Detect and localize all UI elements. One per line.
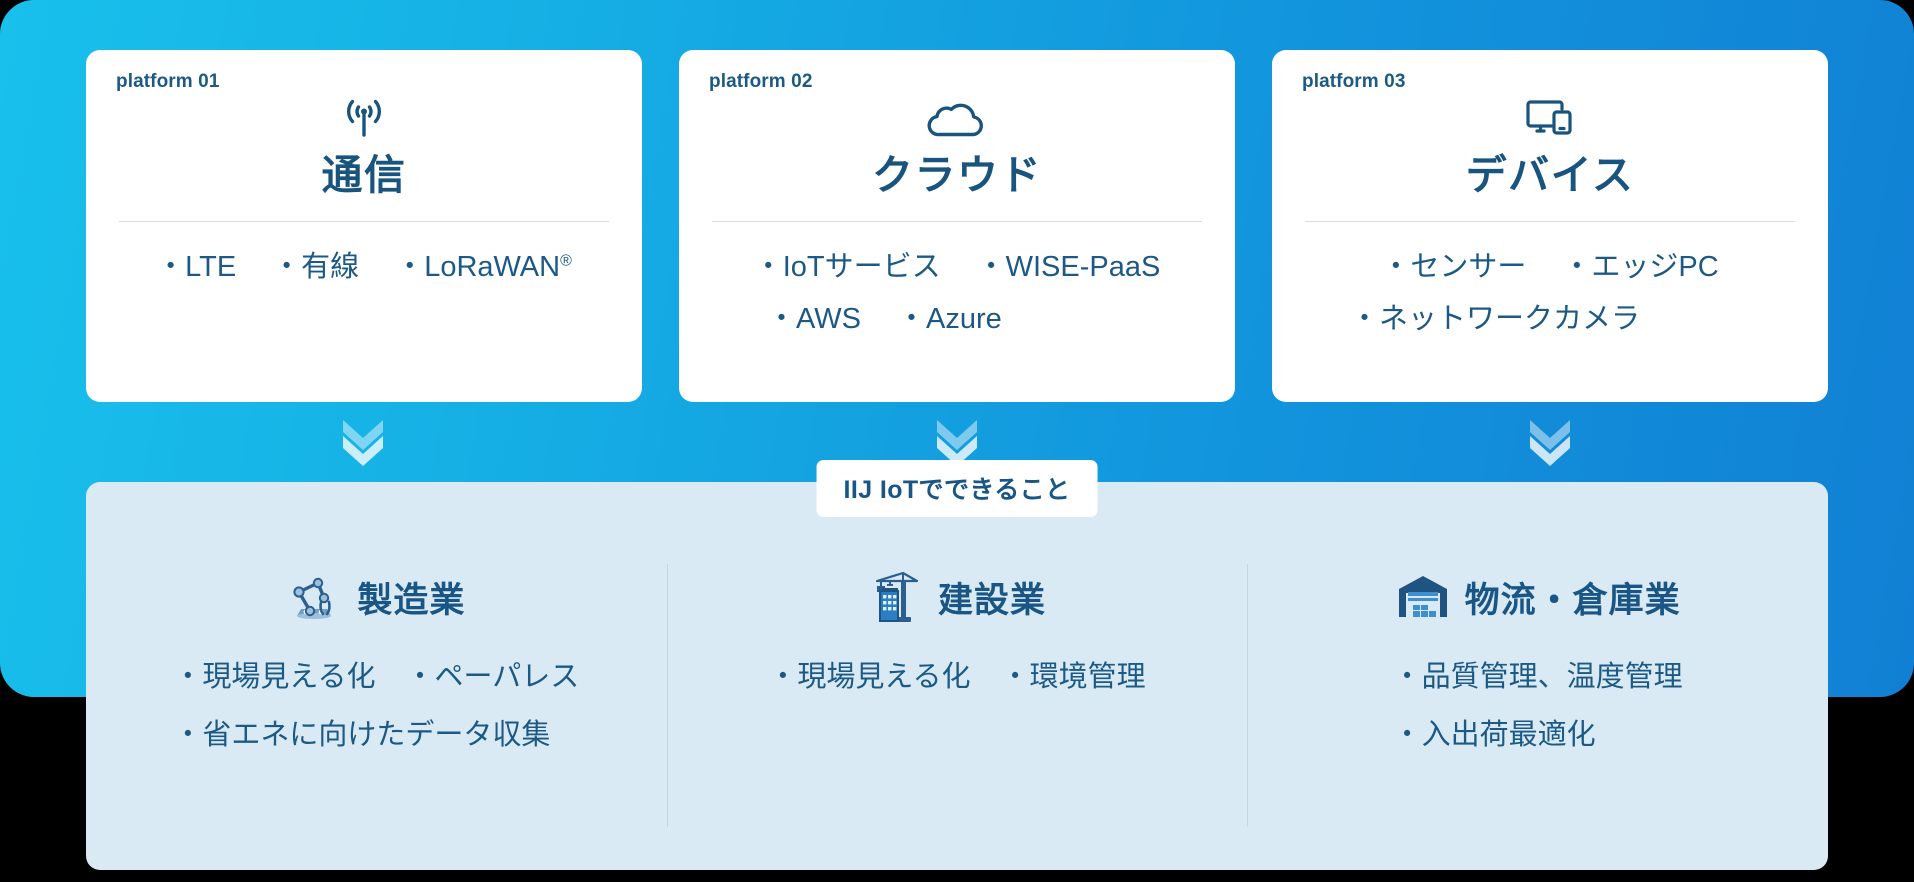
cloud-icon (924, 87, 990, 149)
industry-list: ・品質管理、温度管理 ・入出荷最適化 (1393, 656, 1683, 756)
robot-arm-icon (287, 569, 343, 625)
list-item: ・Azure (897, 298, 1002, 342)
list-item: ・ネットワークカメラ (1350, 298, 1640, 342)
monitor-phone-icon (1520, 87, 1580, 149)
signal-tower-icon (335, 87, 393, 149)
list-row: ・現場見える化 ・ペーパレス (173, 656, 579, 698)
list-item: ・環境管理 (1001, 656, 1146, 698)
platform-card-title: クラウド (872, 151, 1042, 199)
list-row: ・LTE ・有線 ・LoRaWAN® (156, 246, 572, 290)
platform-card-head: 通信 (116, 87, 612, 199)
capabilities-panel: IIJ IoTでできること (86, 482, 1828, 870)
card-divider (119, 221, 609, 222)
industry-title: 製造業 (357, 572, 465, 623)
list-item: ・品質管理、温度管理 (1393, 656, 1683, 698)
double-chevron-down-icon (335, 412, 391, 468)
list-row: ・センサー ・エッジPC (1381, 246, 1718, 290)
list-item: ・AWS (767, 298, 861, 342)
list-item: ・入出荷最適化 (1393, 714, 1596, 756)
list-row: ・ネットワークカメラ (1302, 298, 1798, 342)
double-chevron-down-icon (1522, 412, 1578, 468)
industry-head: 製造業 (287, 566, 465, 628)
list-row: ・IoTサービス ・WISE-PaaS (754, 246, 1161, 290)
list-row: ・入出荷最適化 (1393, 714, 1596, 756)
platform-card-head: デバイス (1302, 87, 1798, 199)
industry-logistics[interactable]: 物流・倉庫業 ・品質管理、温度管理 ・入出荷最適化 (1247, 550, 1828, 870)
industry-list: ・現場見える化 ・ペーパレス ・省エネに向けたデータ収集 (173, 656, 579, 756)
card-divider (1305, 221, 1795, 222)
industry-title: 建設業 (938, 572, 1046, 623)
industry-manufacturing[interactable]: 製造業 ・現場見える化 ・ペーパレス ・省エネに向けたデータ収集 (86, 550, 667, 870)
infographic-root: platform 01 通信 ・LTE (0, 0, 1914, 882)
list-item: ・ペーパレス (406, 656, 580, 698)
list-item: ・LTE (156, 246, 236, 290)
list-row: ・AWS ・Azure (709, 298, 1205, 342)
list-row: ・現場見える化 ・環境管理 (768, 656, 1145, 698)
industry-title: 物流・倉庫業 (1465, 572, 1681, 623)
list-item: ・現場見える化 (173, 656, 375, 698)
list-item: ・WISE-PaaS (977, 246, 1161, 290)
list-item: ・現場見える化 (768, 656, 970, 698)
list-item: ・エッジPC (1562, 246, 1718, 290)
platform-card-head: クラウド (709, 87, 1205, 199)
platform-card-device[interactable]: platform 03 デバイス ・センサー ・エッジPC (1272, 50, 1828, 402)
industry-head: 物流・倉庫業 (1395, 566, 1681, 628)
industry-list: ・現場見える化 ・環境管理 (768, 656, 1145, 698)
industry-construction[interactable]: 建設業 ・現場見える化 ・環境管理 (667, 550, 1248, 870)
industry-head: 建設業 (868, 566, 1046, 628)
platform-card-list: ・IoTサービス ・WISE-PaaS ・AWS ・Azure (709, 246, 1205, 341)
platform-card-list: ・センサー ・エッジPC ・ネットワークカメラ (1302, 246, 1798, 341)
industries-row: 製造業 ・現場見える化 ・ペーパレス ・省エネに向けたデータ収集 (86, 550, 1828, 870)
list-item: ・センサー (1381, 246, 1526, 290)
card-divider (712, 221, 1202, 222)
platform-card-communication[interactable]: platform 01 通信 ・LTE (86, 50, 642, 402)
list-item: ・LoRaWAN® (395, 246, 572, 290)
list-item: ・IoTサービス (754, 246, 941, 290)
list-row: ・省エネに向けたデータ収集 (173, 714, 550, 756)
platform-card-list: ・LTE ・有線 ・LoRaWAN® (116, 246, 612, 290)
list-item: ・省エネに向けたデータ収集 (173, 714, 550, 756)
list-item: ・有線 (272, 246, 359, 290)
platform-card-cloud[interactable]: platform 02 クラウド ・IoTサービス ・WISE-PaaS ・AW… (679, 50, 1235, 402)
warehouse-icon (1395, 569, 1451, 625)
capabilities-badge: IIJ IoTでできること (817, 460, 1098, 517)
platform-cards-row: platform 01 通信 ・LTE (86, 50, 1828, 402)
platform-card-title: 通信 (322, 151, 407, 199)
list-row: ・品質管理、温度管理 (1393, 656, 1683, 698)
crane-building-icon (868, 569, 924, 625)
platform-card-title: デバイス (1466, 151, 1635, 199)
